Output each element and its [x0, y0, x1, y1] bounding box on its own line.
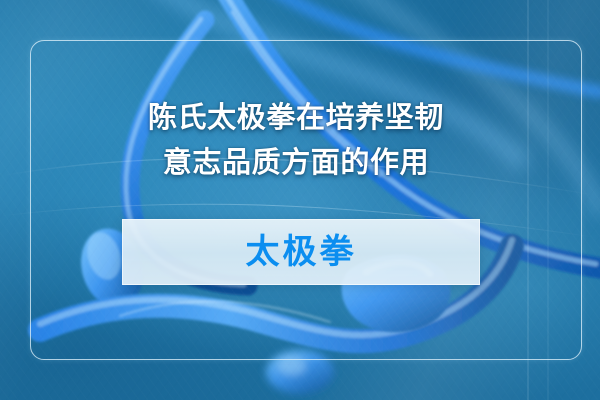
poster-content: 陈氏太极拳在培养坚韧 意志品质方面的作用 太极拳: [0, 0, 600, 400]
poster-canvas: 陈氏太极拳在培养坚韧 意志品质方面的作用 太极拳: [0, 0, 600, 400]
keyword-plate: 太极拳: [122, 219, 480, 285]
page-title: 陈氏太极拳在培养坚韧 意志品质方面的作用: [96, 96, 496, 186]
keyword-label: 太极拳: [246, 235, 357, 269]
